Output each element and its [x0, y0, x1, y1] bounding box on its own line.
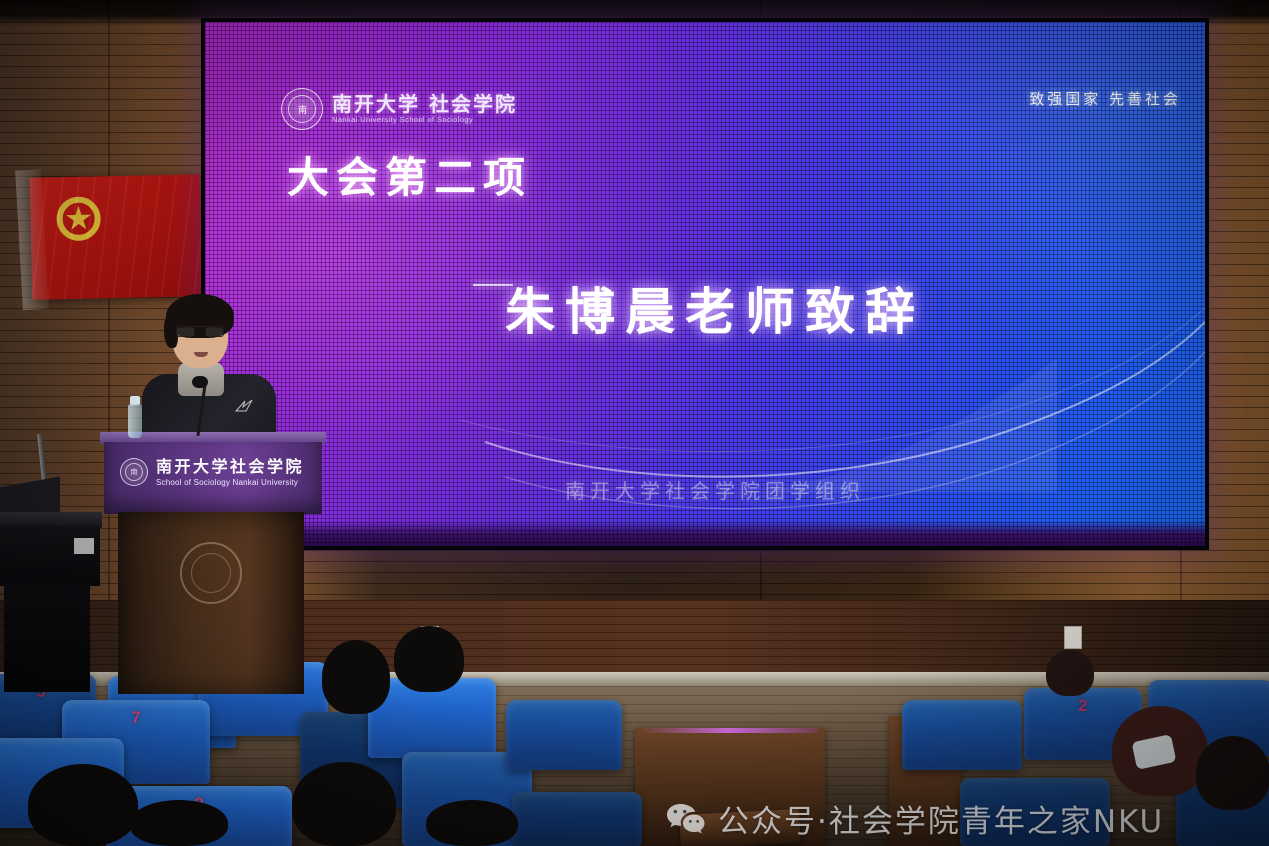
watermark: 公众号·社会学院青年之家NKU	[666, 796, 1164, 841]
podium-emblem-icon: 南	[120, 458, 148, 486]
screen-bottom-fade	[205, 520, 1205, 546]
slide-logo: 南 南开大学 社会学院 Nankai University School of …	[281, 88, 517, 130]
slide-footnote: 南开大学社会学院团学组织	[565, 475, 865, 504]
led-screen-frame: 南 南开大学 社会学院 Nankai University School of …	[201, 18, 1209, 550]
audience-head	[1196, 736, 1269, 810]
wall-outlet	[1064, 626, 1082, 649]
audience-head	[322, 640, 390, 714]
led-screen: 南 南开大学 社会学院 Nankai University School of …	[205, 22, 1205, 546]
podium: 南 南开大学社会学院 School of Sociology Nankai Un…	[104, 432, 322, 692]
microphone-icon	[192, 376, 208, 388]
auditorium-seat	[506, 700, 622, 770]
slide-main-text: 朱博晨老师致辞	[505, 272, 925, 344]
podium-title-en: School of Sociology Nankai University	[156, 478, 304, 487]
speaker-glasses	[176, 326, 224, 336]
av-equipment-box	[0, 526, 100, 586]
slide-slogan: 致强国家 先善社会	[1029, 88, 1181, 109]
audience-head	[292, 762, 396, 846]
audience-head	[28, 764, 138, 846]
audience-head	[394, 626, 464, 692]
auditorium-seat	[512, 792, 642, 846]
podium-front-panel: 南 南开大学社会学院 School of Sociology Nankai Un…	[104, 442, 322, 514]
podium-title-cn: 南开大学社会学院	[156, 458, 304, 476]
watermark-text: 公众号·社会学院青年之家NKU	[718, 796, 1164, 841]
seat-number: 2	[1078, 696, 1087, 716]
audience-head	[426, 800, 518, 846]
podium-brand: 南 南开大学社会学院 School of Sociology Nankai Un…	[120, 458, 304, 487]
desk-light-reflection	[640, 728, 818, 733]
nankai-emblem-icon: 南	[281, 88, 323, 130]
audience-head	[130, 800, 228, 846]
flag-star-emblem	[56, 196, 101, 241]
equipment-label	[74, 538, 94, 554]
seat-number: 7	[131, 708, 140, 728]
youth-league-flag	[30, 174, 203, 300]
podium-base	[118, 512, 304, 694]
podium-emblem-glyph: 南	[125, 463, 143, 481]
glasses-lens-right	[205, 327, 224, 337]
auditorium-photo: 南 南开大学 社会学院 Nankai University School of …	[0, 0, 1269, 846]
av-table-leg	[4, 584, 90, 692]
water-bottle	[128, 404, 142, 438]
jacket-logo-icon	[234, 398, 254, 414]
slide-logo-en: Nankai University School of Sociology	[332, 116, 517, 124]
podium-seal-inner	[191, 553, 231, 593]
slide-title: 大会第二项	[287, 144, 532, 205]
audience-head	[1046, 650, 1094, 696]
glasses-lens-left	[176, 327, 195, 337]
slide-logo-cn: 南开大学 社会学院	[332, 94, 517, 114]
av-equipment-table	[0, 492, 106, 692]
nankai-emblem-glyph: 南	[288, 95, 316, 123]
auditorium-seat	[902, 700, 1022, 770]
wechat-icon	[666, 802, 706, 836]
star-icon	[65, 206, 92, 233]
podium-seal-icon	[180, 542, 242, 604]
